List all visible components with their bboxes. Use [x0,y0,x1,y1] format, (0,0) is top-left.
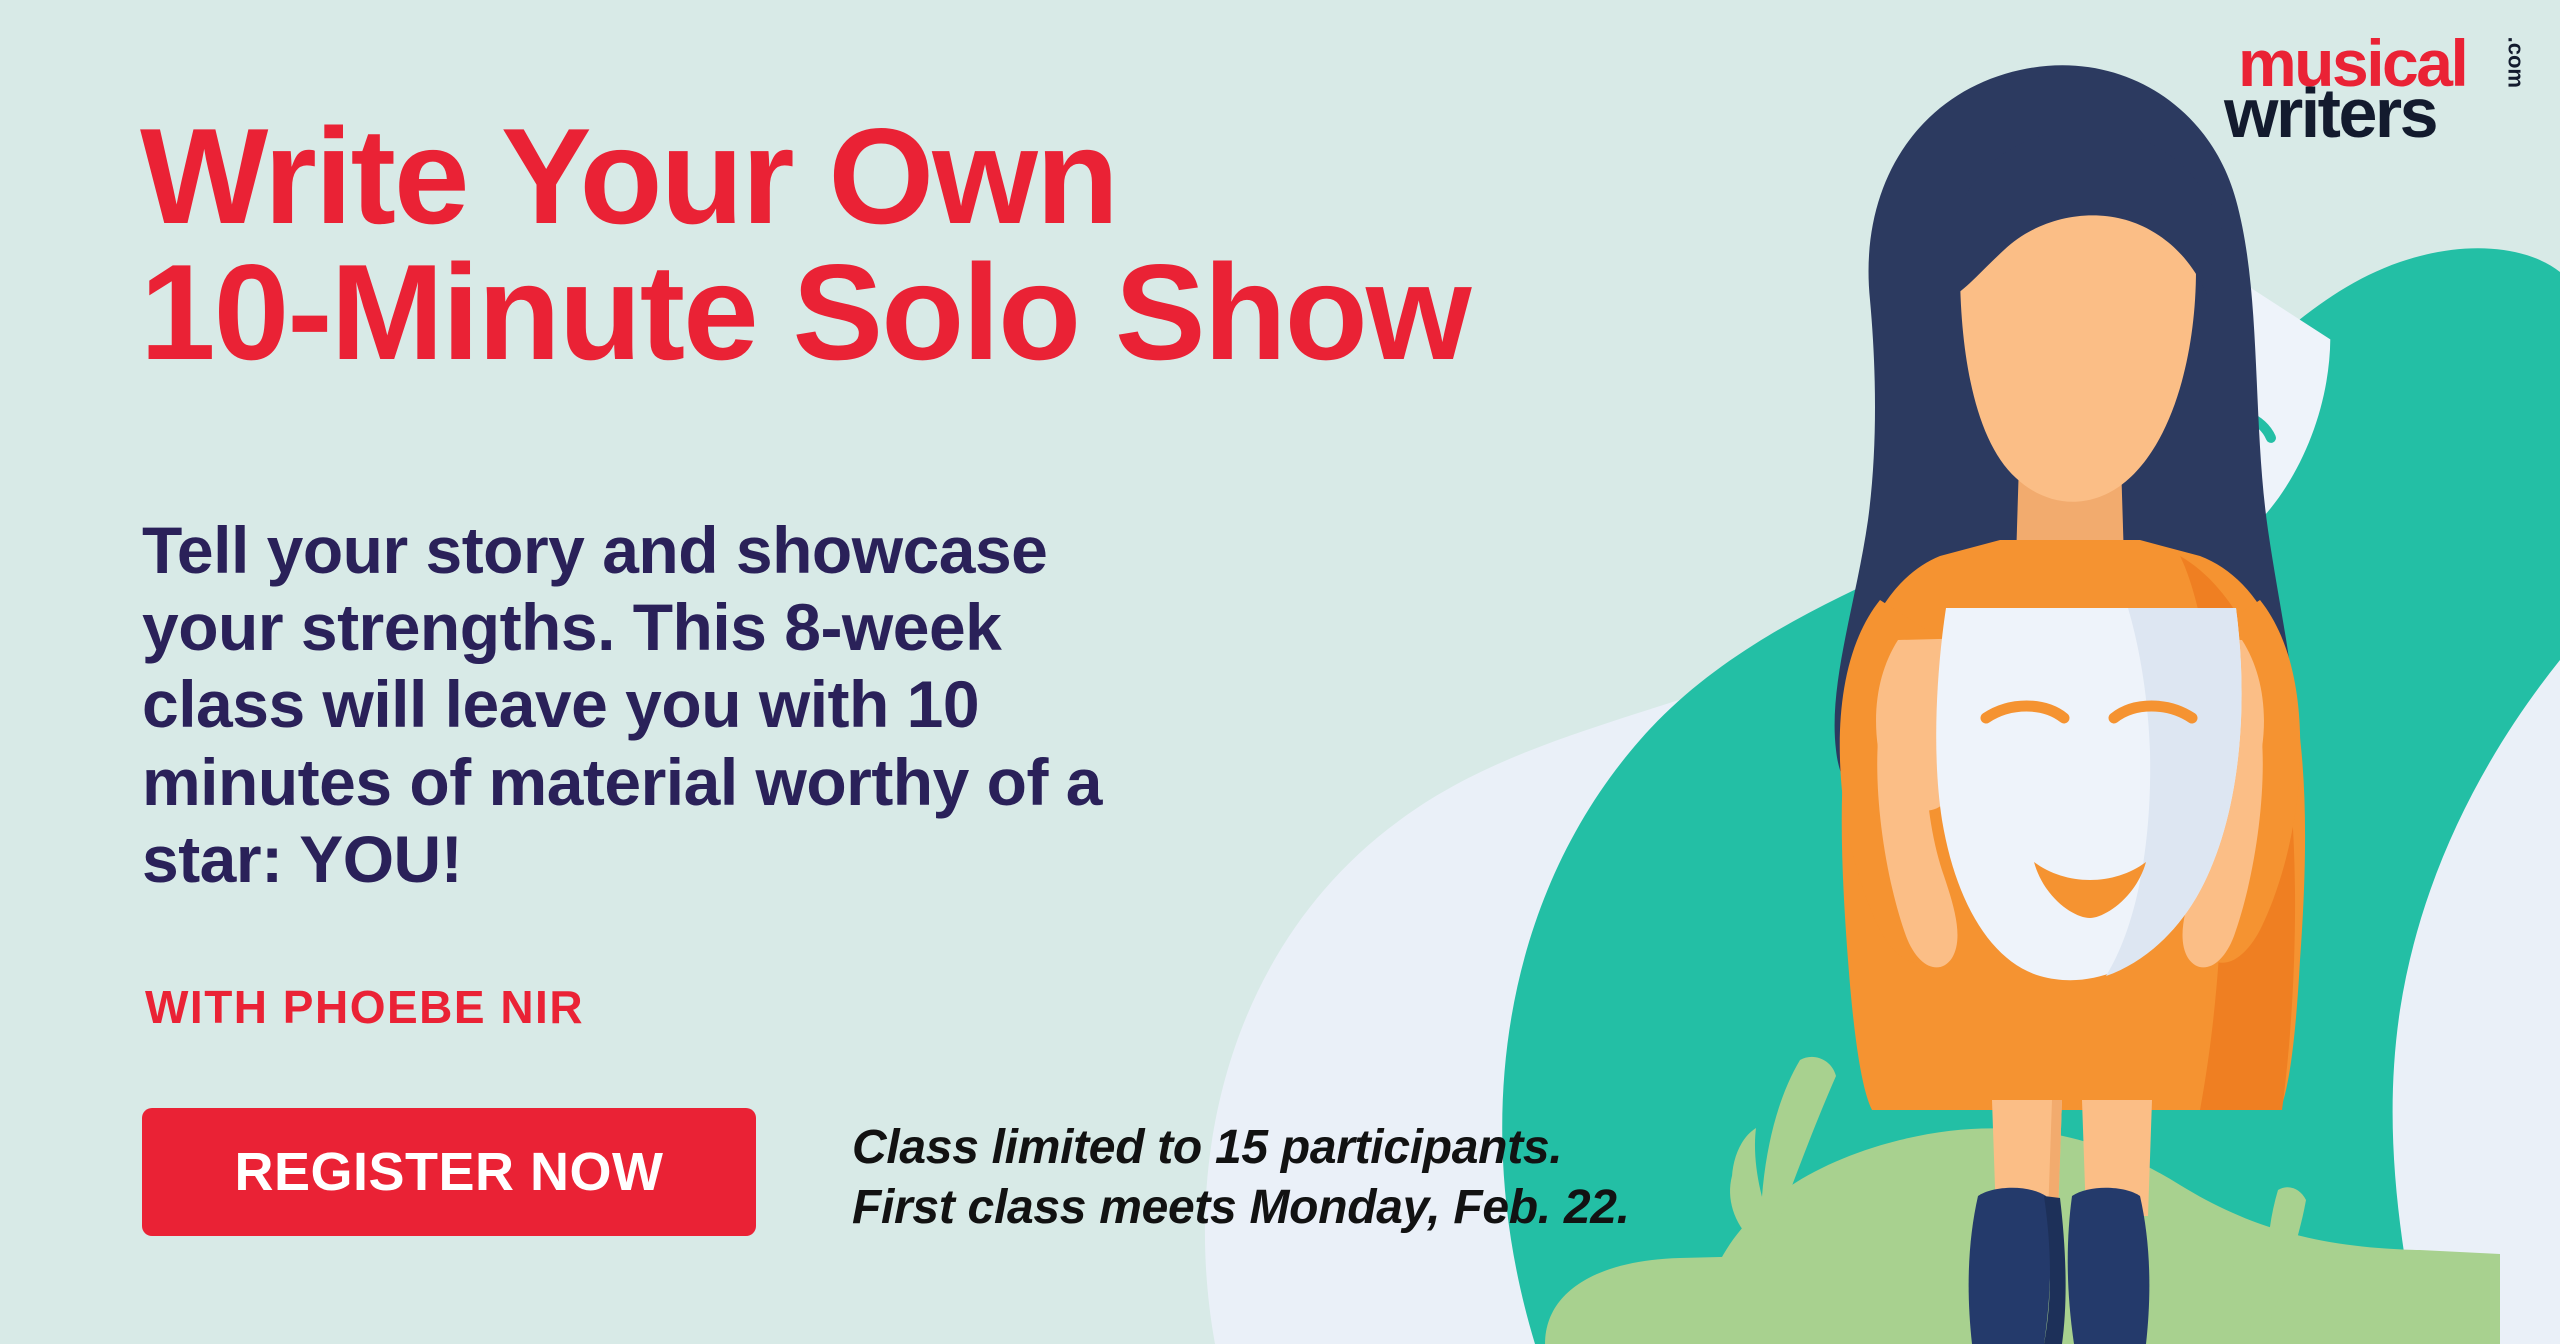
class-details-note: Class limited to 15 participants. First … [852,1108,1630,1239]
promo-banner: musical writers .com Write Your Own 10-M… [0,0,2560,1344]
instructor-byline: WITH PHOEBE NIR [145,980,584,1034]
boot-left [1969,1188,2051,1344]
page-title: Write Your Own 10-Minute Solo Show [140,108,1640,380]
logo-word-writers: writers [2224,78,2436,148]
cta-row: REGISTER NOW Class limited to 15 partici… [142,1108,1630,1239]
content-column: Write Your Own 10-Minute Solo Show Tell … [0,0,1700,1344]
musicalwriters-logo[interactable]: musical writers .com [2224,30,2524,146]
boot-right [2068,1188,2150,1344]
subheading-text: Tell your story and showcase your streng… [142,512,1162,898]
headline-line-2: 10-Minute Solo Show [140,244,1640,380]
note-line-1: Class limited to 15 participants. [852,1121,1562,1174]
logo-tld: .com [2504,37,2526,88]
headline-line-1: Write Your Own [140,100,1117,252]
register-now-button[interactable]: REGISTER NOW [142,1108,756,1236]
note-line-2: First class meets Monday, Feb. 22. [852,1181,1630,1234]
